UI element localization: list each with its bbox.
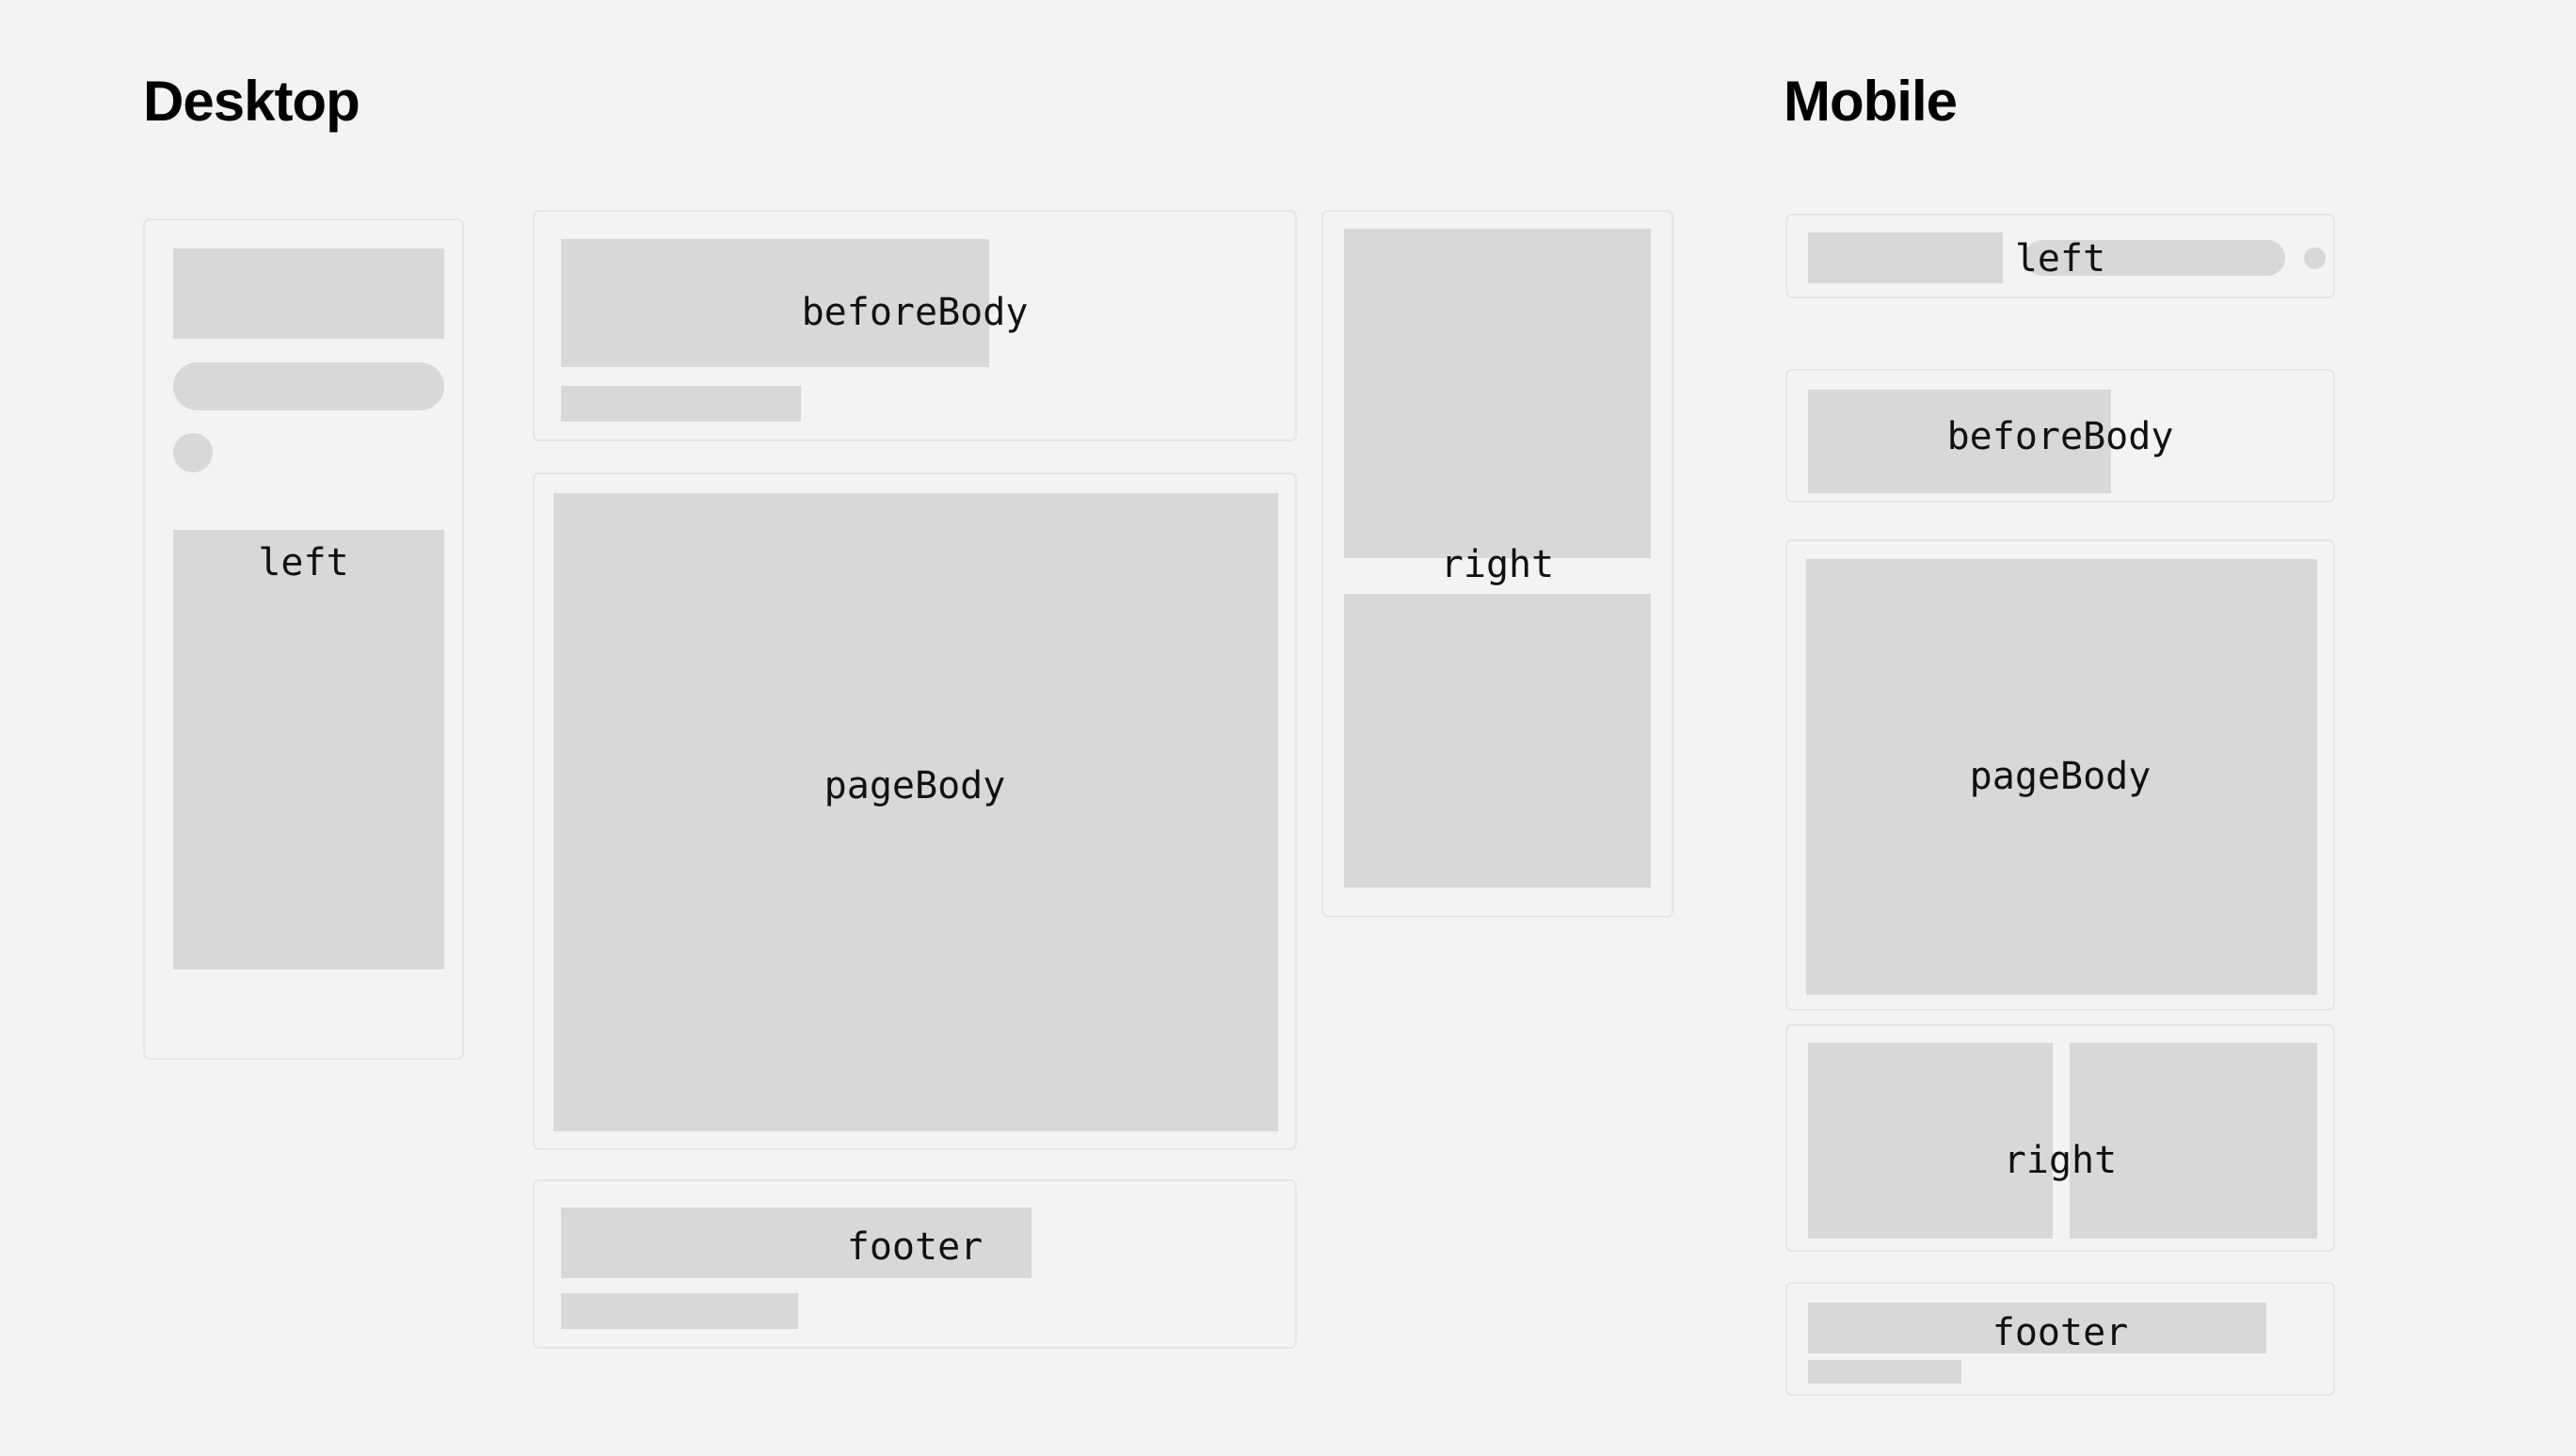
skeleton-block-rect [1808,232,2003,283]
mobile-slot-right-panel[interactable] [1785,1024,2335,1252]
desktop-slot-pagebody-panel[interactable] [533,472,1297,1150]
mobile-slot-left-panel[interactable] [1785,214,2335,298]
mobile-slot-beforebody-panel[interactable] [1785,369,2335,503]
skeleton-block-fill [1806,559,2317,995]
mobile-slot-footer-panel[interactable] [1785,1282,2335,1396]
mobile-slot-pagebody-panel[interactable] [1785,539,2335,1011]
skeleton-block-wide [561,1208,1032,1278]
skeleton-block-pill [2024,240,2285,276]
skeleton-block-small [561,386,801,422]
skeleton-block-small [561,1293,798,1329]
skeleton-block-tall [173,530,444,969]
desktop-section-title: Desktop [143,73,360,130]
desktop-slot-left-panel[interactable] [143,218,464,1060]
desktop-slot-beforebody-panel[interactable] [533,210,1297,441]
skeleton-block-large [173,248,444,339]
skeleton-block-pill [173,362,444,410]
skeleton-block-left [1808,1043,2053,1239]
skeleton-block-fill [553,493,1278,1131]
skeleton-block-top [1344,229,1651,558]
desktop-slot-right-panel[interactable] [1321,210,1673,918]
skeleton-block-small [1808,1360,1961,1384]
skeleton-block-wide [561,239,989,367]
skeleton-block-bottom [1344,594,1651,888]
mobile-section-title: Mobile [1784,73,1957,130]
skeleton-block-right [2070,1043,2317,1239]
skeleton-avatar-circle [2304,248,2326,269]
skeleton-avatar-circle [173,433,213,472]
skeleton-block-wide [1808,1303,2266,1353]
desktop-slot-footer-panel[interactable] [533,1179,1297,1349]
skeleton-block-small [1808,456,1987,488]
